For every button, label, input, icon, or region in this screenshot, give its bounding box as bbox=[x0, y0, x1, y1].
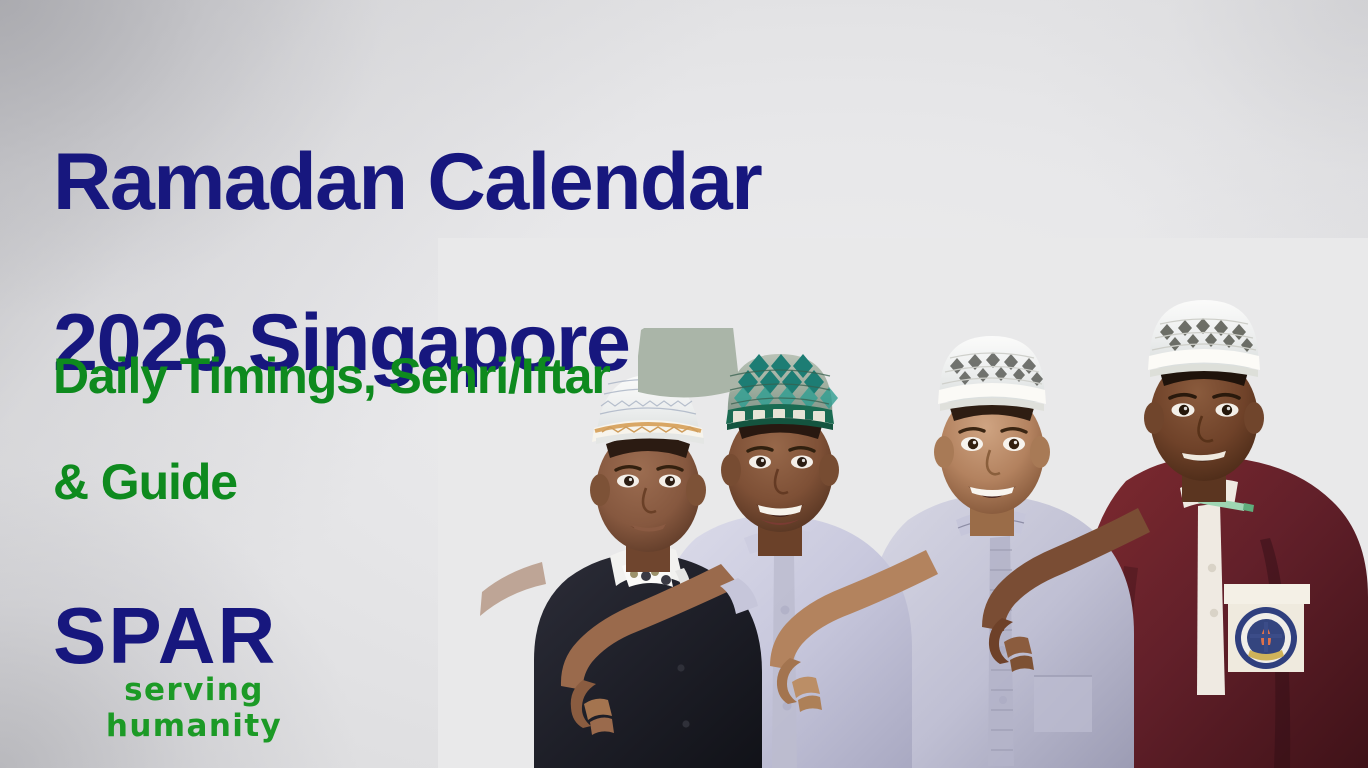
logo-tagline: serving humanity bbox=[53, 672, 335, 744]
subhead-line-1: Daily Timings, Sehri/Iftar bbox=[53, 350, 813, 403]
spar-logo[interactable]: SPAR serving humanity bbox=[53, 601, 338, 744]
logo-wordmark: SPAR bbox=[53, 601, 338, 671]
headline-line-1: Ramadan Calendar bbox=[53, 142, 1043, 222]
page-subtitle: Daily Timings, Sehri/Iftar & Guide bbox=[53, 297, 813, 562]
ramadan-calendar-banner: Ramadan Calendar 2026 Singapore Daily Ti… bbox=[0, 0, 1368, 768]
subhead-line-2: & Guide bbox=[53, 456, 813, 509]
